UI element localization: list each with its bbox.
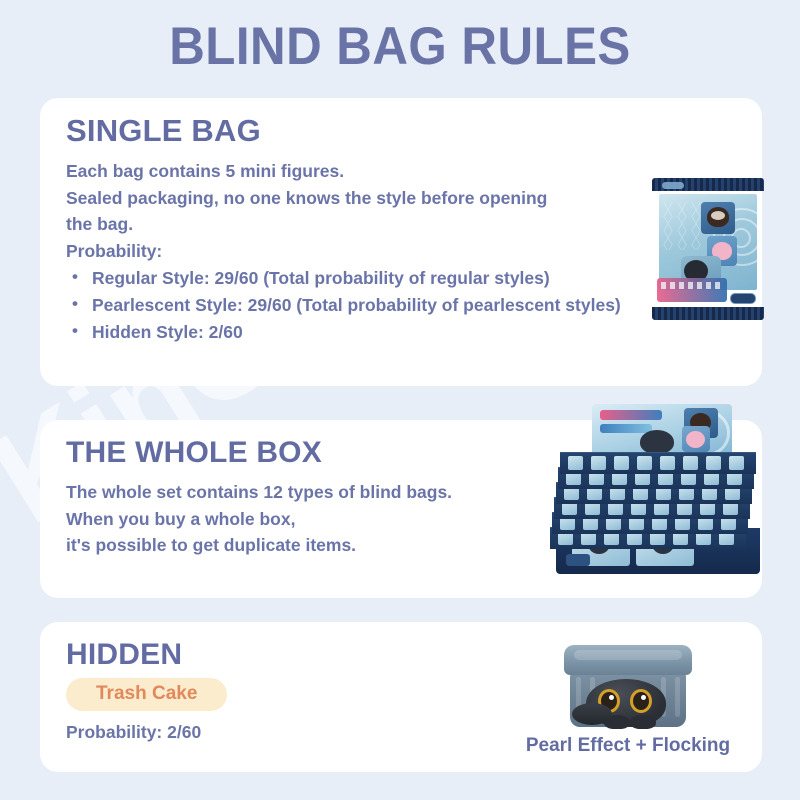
blind-bag-packet-image: [652, 178, 764, 320]
mini-packet: [591, 456, 606, 470]
status-badge: Trash Cake: [66, 678, 227, 711]
card-single-bag-heading: SINGLE BAG: [66, 114, 738, 148]
list-item: Regular Style: 29/60 (Total probability …: [66, 265, 666, 292]
mini-packet: [706, 456, 721, 470]
mini-packet: [614, 456, 629, 470]
packet-body: [652, 178, 764, 320]
mini-packet: [568, 456, 583, 470]
creature-body: [586, 679, 666, 727]
character-figure: [640, 430, 674, 454]
creature-foot: [630, 715, 656, 729]
list-item: Hidden Style: 2/60: [66, 319, 666, 346]
character-figure: [682, 426, 710, 452]
header-title-art: [600, 410, 662, 420]
display-box-rows: [560, 452, 756, 538]
hidden-figure-image: [556, 645, 700, 729]
hex-pattern: [661, 202, 705, 250]
character-figure: [701, 202, 735, 234]
body-line: Probability:: [66, 238, 738, 265]
mini-packet: [729, 456, 744, 470]
creature-paw: [572, 703, 612, 725]
display-box-header-card: [592, 404, 732, 458]
header-subtitle-art: [600, 424, 652, 433]
display-box-image: [548, 404, 764, 574]
body-line: Each bag contains 5 mini figures.: [66, 158, 738, 185]
body-line: Sealed packaging, no one knows the style…: [66, 185, 738, 212]
trash-bin-lid: [564, 645, 692, 675]
packet-logo: [657, 278, 727, 302]
probability-bullet-list: Regular Style: 29/60 (Total probability …: [66, 265, 738, 345]
packet-brand-mark: [662, 182, 684, 189]
bin-rib: [675, 677, 680, 717]
card-single-bag-body: Each bag contains 5 mini figures. Sealed…: [66, 158, 738, 264]
hidden-figure-caption: Pearl Effect + Flocking: [494, 735, 762, 757]
packet-tab: [730, 293, 756, 304]
mini-packet: [660, 456, 675, 470]
mini-packet: [637, 456, 652, 470]
mini-packet: [683, 456, 698, 470]
creature-eye-right: [630, 689, 652, 713]
page-title: BLIND BAG RULES: [28, 0, 772, 73]
list-item: Pearlescent Style: 29/60 (Total probabil…: [66, 292, 666, 319]
packet-artwork: [659, 194, 757, 290]
packet-crimp-bottom: [652, 307, 764, 320]
body-line: the bag.: [66, 211, 738, 238]
display-box-row: [560, 452, 756, 474]
